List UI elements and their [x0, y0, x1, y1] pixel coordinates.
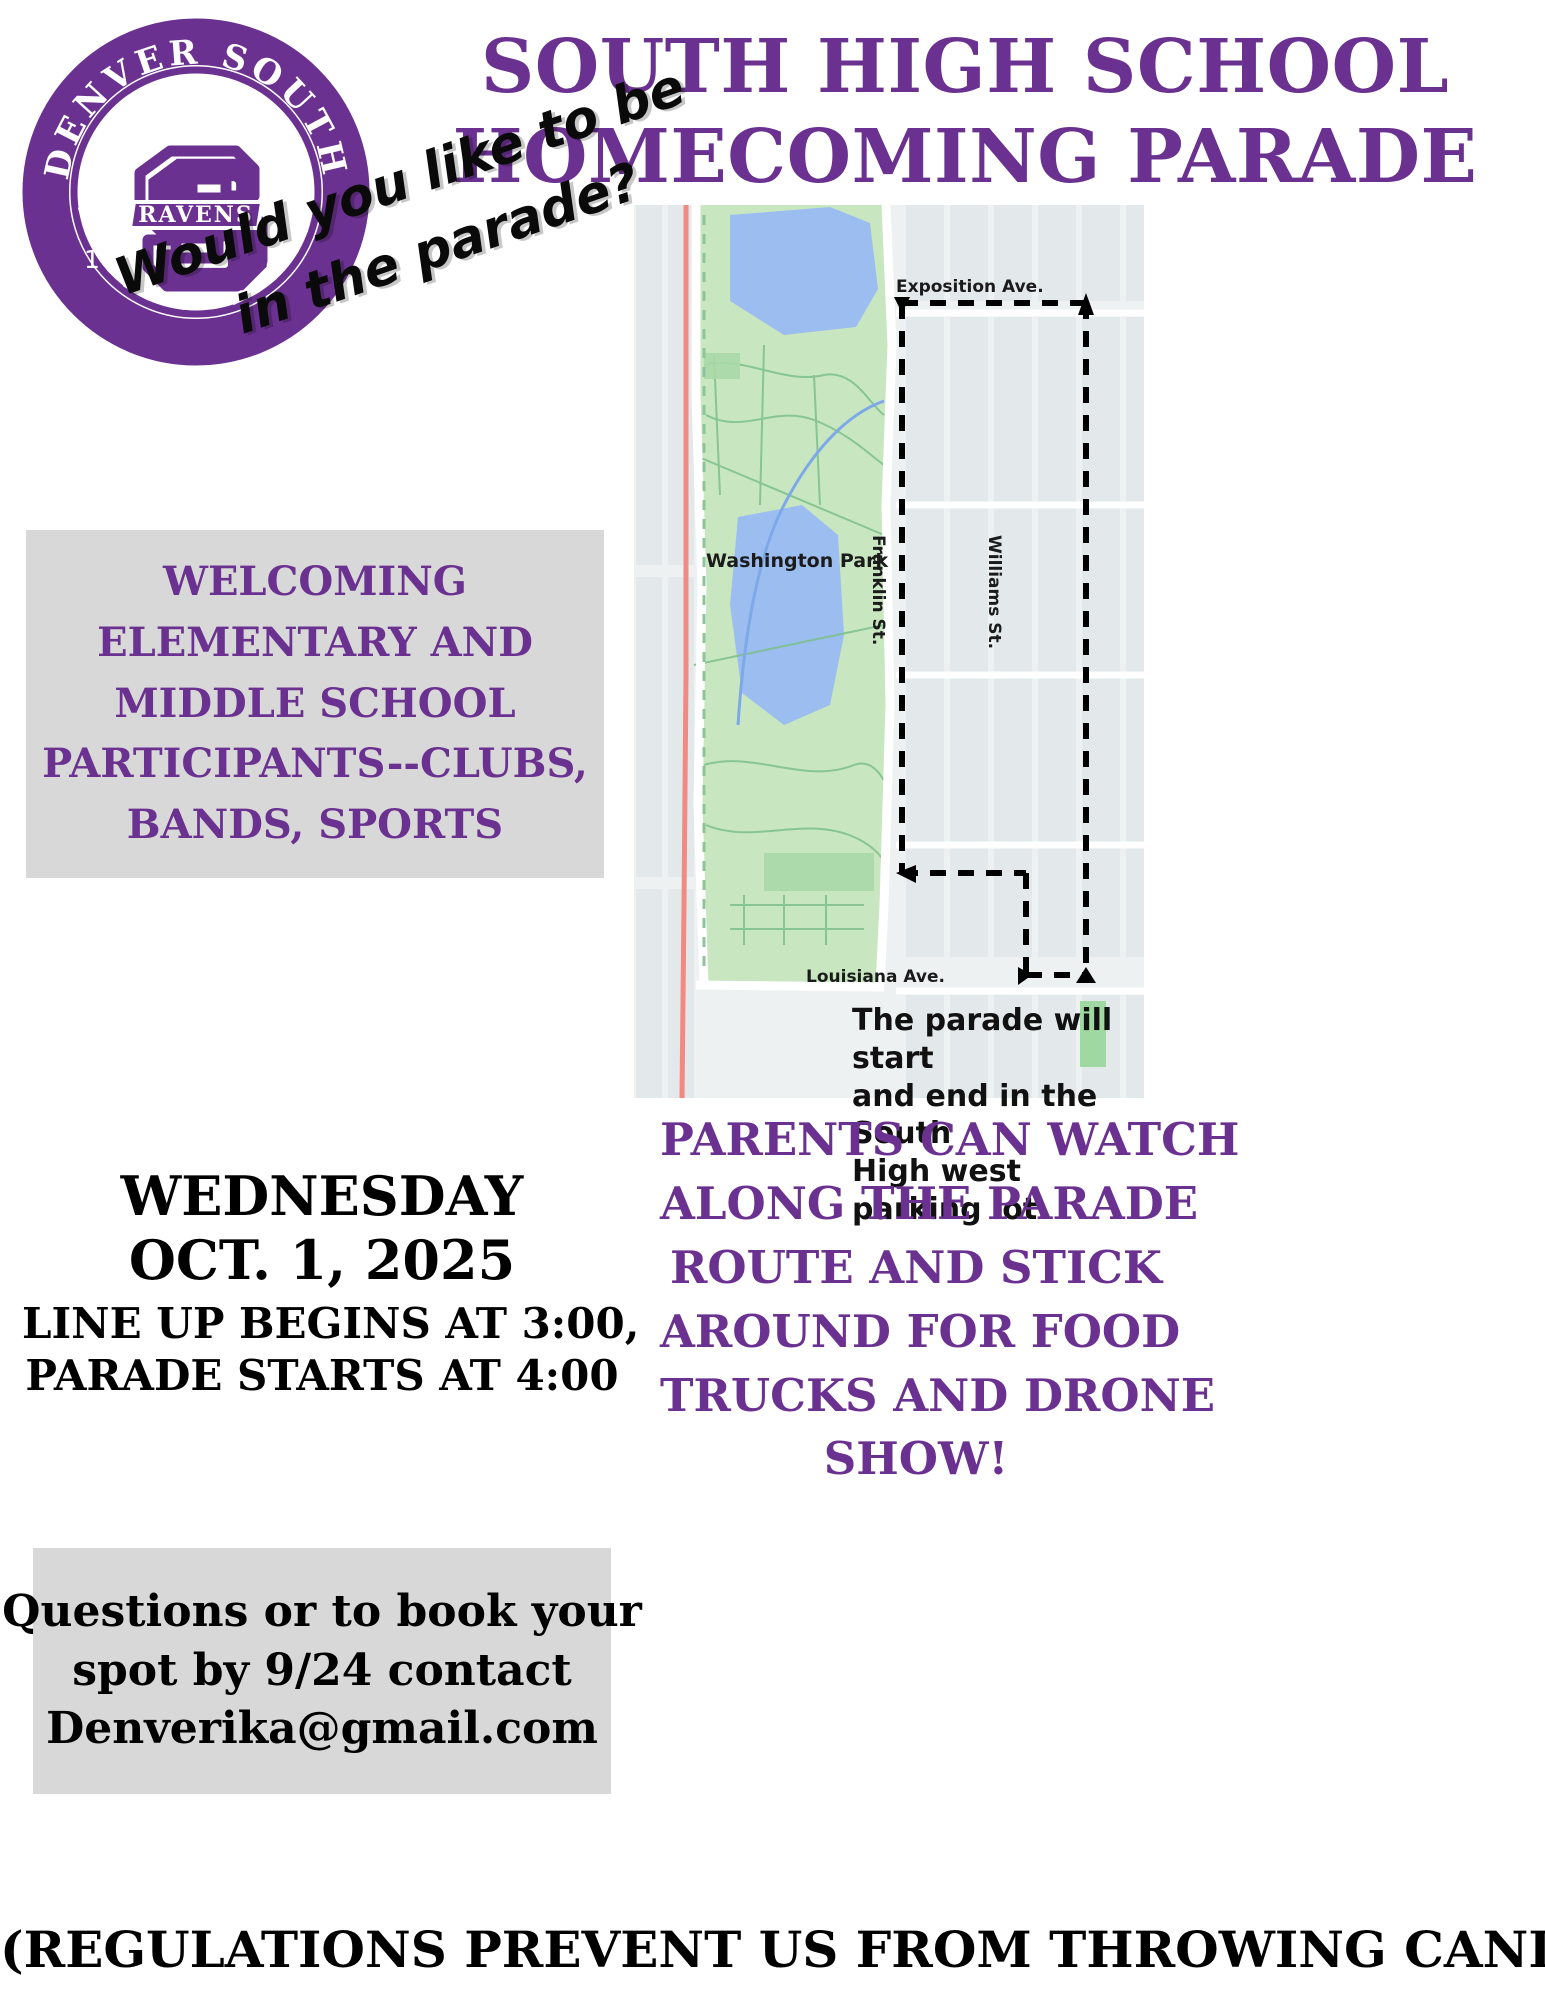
event-start-time: PARADE STARTS AT 4:00	[22, 1350, 622, 1401]
map-lake-south	[730, 505, 844, 725]
map-label-franklin-st: Franklin St.	[868, 535, 888, 645]
map-park-building-b	[764, 853, 874, 891]
parents-line-2: ALONG THE PARADE	[660, 1172, 1172, 1236]
event-day: WEDNESDAY	[22, 1165, 622, 1229]
welcoming-line-2: ELEMENTARY AND	[42, 613, 588, 674]
event-date: OCT. 1, 2025	[22, 1229, 622, 1293]
parents-info-block: PARENTS CAN WATCH ALONG THE PARADE ROUTE…	[660, 1108, 1172, 1491]
parents-line-4: AROUND FOR FOOD	[660, 1300, 1172, 1364]
contact-line-1: Questions or to book your	[2, 1583, 642, 1642]
map-label-exposition-ave: Exposition Ave.	[896, 277, 1044, 297]
event-date-block: WEDNESDAY OCT. 1, 2025 LINE UP BEGINS AT…	[22, 1165, 622, 1401]
map-caption-line-1: The parade will start	[852, 1002, 1148, 1078]
welcoming-line-4: PARTICIPANTS--CLUBS,	[42, 734, 588, 795]
contact-email[interactable]: Denverika@gmail.com	[2, 1700, 642, 1759]
parents-line-1: PARENTS CAN WATCH	[660, 1108, 1172, 1172]
welcoming-line-1: WELCOMING	[42, 552, 588, 613]
welcoming-line-5: BANDS, SPORTS	[42, 795, 588, 856]
footer-regulations-note: (REGULATIONS PREVENT US FROM THROWING CA…	[0, 1920, 1545, 1979]
welcoming-text: WELCOMING ELEMENTARY AND MIDDLE SCHOOL P…	[36, 552, 594, 856]
parents-line-5: TRUCKS AND DRONE	[660, 1364, 1172, 1428]
map-label-williams-st: Williams St.	[984, 535, 1004, 649]
contact-text: Questions or to book your spot by 9/24 c…	[2, 1583, 642, 1760]
contact-panel: Questions or to book your spot by 9/24 c…	[33, 1548, 611, 1794]
event-lineup-time: LINE UP BEGINS AT 3:00,	[22, 1298, 622, 1349]
welcoming-line-3: MIDDLE SCHOOL	[42, 674, 588, 735]
parade-route-map: Exposition Ave. Washington Park Louisian…	[634, 205, 1144, 1098]
map-park-building-a	[704, 353, 740, 379]
contact-line-2: spot by 9/24 contact	[2, 1642, 642, 1701]
parents-line-6: SHOW!	[660, 1427, 1172, 1491]
map-label-washington-park: Washington Park	[706, 550, 888, 572]
welcoming-panel: WELCOMING ELEMENTARY AND MIDDLE SCHOOL P…	[26, 530, 604, 878]
parents-line-3: ROUTE AND STICK	[660, 1236, 1172, 1300]
map-label-louisiana-ave: Louisiana Ave.	[806, 967, 945, 987]
